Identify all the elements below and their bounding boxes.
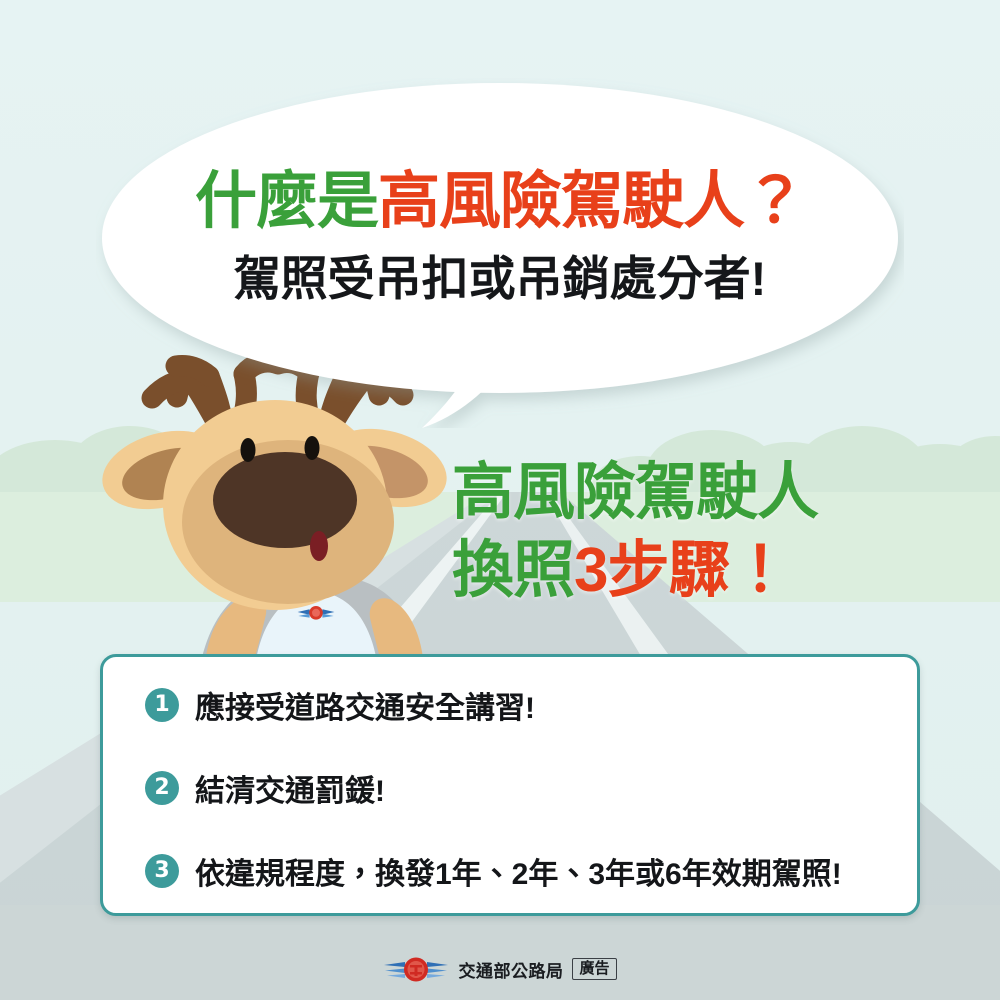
step-text-1: 應接受道路交通安全講習! — [195, 683, 535, 727]
steps-card: 1 應接受道路交通安全講習! 2 結清交通罰鍰! 3 依違規程度，換發1年、2年… — [100, 654, 920, 916]
headline: 高風險駕駛人 換照3步驟！ — [452, 462, 922, 602]
ad-tag: 廣告 — [572, 958, 616, 980]
bubble-content: 什麼是高風險駕駛人？ 駕照受吊扣或吊銷處分者! — [96, 78, 904, 428]
headline-row2-green: 換照 — [452, 536, 574, 605]
eye-left — [241, 438, 256, 462]
poster: 什麼是高風險駕駛人？ 駕照受吊扣或吊銷處分者! 高風險駕駛人 換照3步驟！ 1 … — [0, 0, 1000, 1000]
step-item-1: 1 應接受道路交通安全講習! — [145, 683, 887, 727]
step-badge-3: 3 — [145, 854, 179, 888]
agency-name: 交通部公路局 — [458, 957, 563, 982]
bubble-subtitle: 駕照受吊扣或吊銷處分者! — [234, 253, 767, 305]
footer: 交通部公路局 廣告 — [0, 954, 1000, 984]
headline-row-1: 高風險駕駛人 — [452, 462, 922, 524]
bubble-title-green: 什麼是 — [195, 167, 378, 236]
speech-bubble: 什麼是高風險駕駛人？ 駕照受吊扣或吊銷處分者! — [96, 78, 904, 428]
step-text-3: 依違規程度，換發1年、2年、3年或6年效期駕照! — [195, 849, 842, 893]
headline-row2-orange: 3步驟！ — [574, 536, 790, 605]
agency-logo-icon — [383, 954, 449, 984]
step-badge-2: 2 — [145, 771, 179, 805]
step-text-2: 結清交通罰鍰! — [195, 766, 385, 810]
bubble-title-orange: 高風險駕駛人？ — [378, 167, 805, 236]
step-badge-1: 1 — [145, 688, 179, 722]
headline-row-2: 換照3步驟！ — [452, 540, 922, 602]
step-item-2: 2 結清交通罰鍰! — [145, 766, 887, 810]
bubble-title: 什麼是高風險駕駛人？ — [195, 169, 805, 235]
step-item-3: 3 依違規程度，換發1年、2年、3年或6年效期駕照! — [145, 849, 887, 893]
eye-right — [305, 436, 320, 460]
nose — [213, 452, 357, 548]
mouth — [310, 531, 328, 561]
